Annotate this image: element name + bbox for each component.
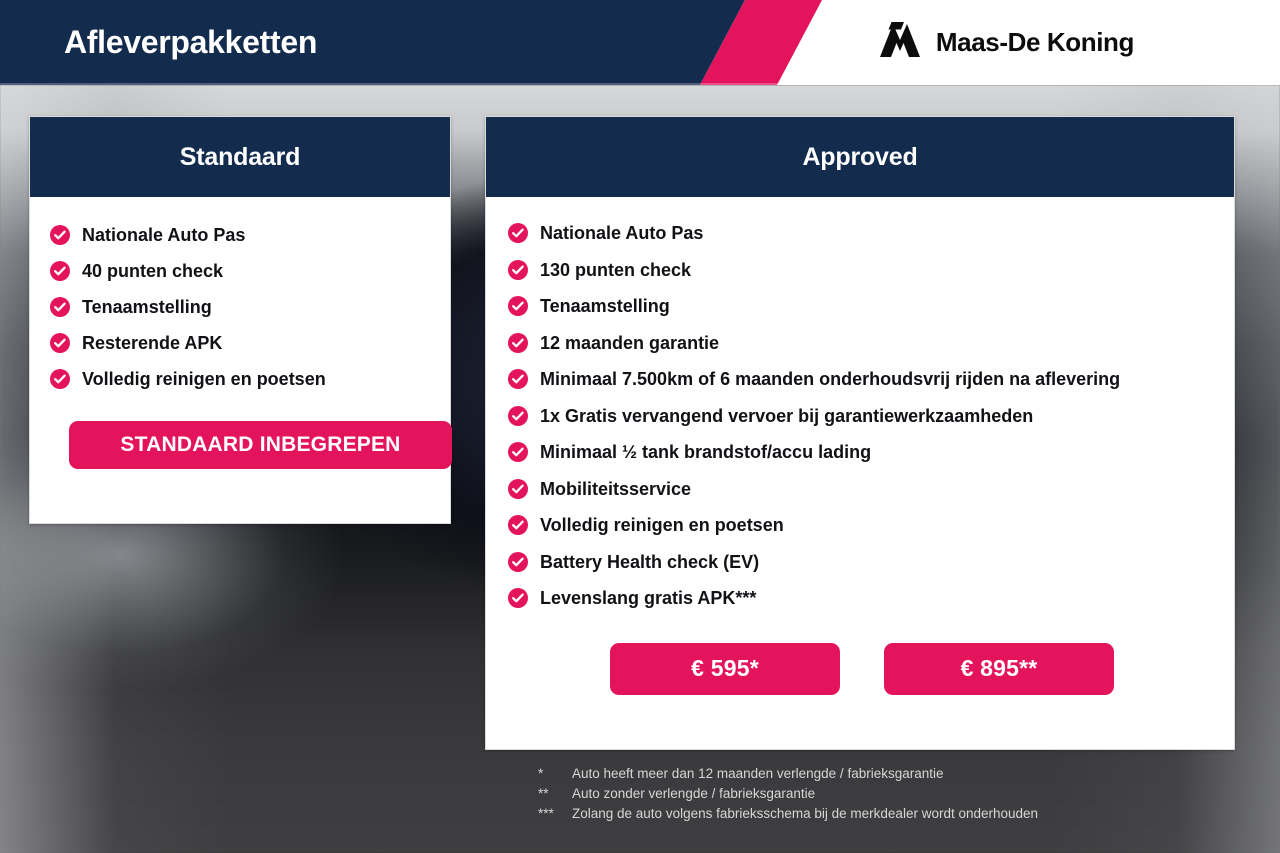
price-button-595[interactable]: € 595*	[610, 643, 840, 695]
footnote-row: * Auto heeft meer dan 12 maanden verleng…	[538, 764, 1238, 784]
feature-label: Volledig reinigen en poetsen	[82, 361, 430, 397]
header-divider	[0, 83, 1280, 85]
check-circle-icon	[50, 297, 70, 317]
check-circle-icon	[508, 369, 528, 389]
check-circle-icon	[508, 588, 528, 608]
list-item: 130 punten check	[508, 252, 1216, 289]
check-circle-icon	[50, 333, 70, 353]
list-item: Levenslang gratis APK***	[508, 580, 1216, 617]
standaard-included-button[interactable]: STANDAARD INBEGREPEN	[69, 421, 452, 469]
price-button-895[interactable]: € 895**	[884, 643, 1114, 695]
list-item: Tenaamstelling	[508, 288, 1216, 325]
list-item: Minimaal 7.500km of 6 maanden onderhouds…	[508, 361, 1216, 398]
list-item: Tenaamstelling	[50, 289, 430, 325]
feature-label: Tenaamstelling	[82, 289, 430, 325]
card-body-standaard: Nationale Auto Pas 40 punten check Tenaa…	[30, 197, 450, 469]
list-item: 1x Gratis vervangend vervoer bij garanti…	[508, 398, 1216, 435]
feature-label: Minimaal 7.500km of 6 maanden onderhouds…	[540, 361, 1216, 398]
footnote-text: Auto heeft meer dan 12 maanden verlengde…	[572, 764, 1238, 784]
check-circle-icon	[508, 223, 528, 243]
footnote-text: Zolang de auto volgens fabrieksschema bi…	[572, 804, 1238, 824]
package-card-approved: Approved Nationale Auto Pas 130 punten c…	[485, 116, 1235, 750]
footnote-marker: *	[538, 764, 572, 784]
feature-label: Nationale Auto Pas	[540, 215, 1216, 252]
feature-label: Volledig reinigen en poetsen	[540, 507, 1216, 544]
feature-label: Resterende APK	[82, 325, 430, 361]
list-item: Battery Health check (EV)	[508, 544, 1216, 581]
maas-de-koning-m-logo-icon	[878, 22, 922, 63]
brand-lockup: Maas-De Koning	[878, 0, 1134, 85]
check-circle-icon	[508, 552, 528, 572]
list-item: Volledig reinigen en poetsen	[508, 507, 1216, 544]
feature-list-approved: Nationale Auto Pas 130 punten check Tena…	[508, 215, 1216, 617]
list-item: Mobiliteitsservice	[508, 471, 1216, 508]
page-root: Afleverpakketten Maas-De Koning Standaar…	[0, 0, 1280, 853]
list-item: Resterende APK	[50, 325, 430, 361]
list-item: 40 punten check	[50, 253, 430, 289]
card-body-approved: Nationale Auto Pas 130 punten check Tena…	[486, 197, 1234, 695]
list-item: Volledig reinigen en poetsen	[50, 361, 430, 397]
feature-label: 40 punten check	[82, 253, 430, 289]
check-circle-icon	[50, 261, 70, 281]
page-title: Afleverpakketten	[64, 0, 317, 85]
feature-label: Minimaal ½ tank brandstof/accu lading	[540, 434, 1216, 471]
check-circle-icon	[508, 515, 528, 535]
list-item: Minimaal ½ tank brandstof/accu lading	[508, 434, 1216, 471]
feature-label: 1x Gratis vervangend vervoer bij garanti…	[540, 398, 1216, 435]
feature-label: 12 maanden garantie	[540, 325, 1216, 362]
list-item: Nationale Auto Pas	[50, 217, 430, 253]
brand-name: Maas-De Koning	[936, 27, 1134, 58]
footnote-text: Auto zonder verlengde / fabrieksgarantie	[572, 784, 1238, 804]
feature-label: 130 punten check	[540, 252, 1216, 289]
feature-label: Mobiliteitsservice	[540, 471, 1216, 508]
card-title-standaard: Standaard	[30, 117, 450, 197]
check-circle-icon	[508, 333, 528, 353]
package-card-standaard: Standaard Nationale Auto Pas 40 punten c…	[29, 116, 451, 524]
feature-label: Nationale Auto Pas	[82, 217, 430, 253]
check-circle-icon	[508, 442, 528, 462]
footnote-marker: ***	[538, 804, 572, 824]
check-circle-icon	[508, 296, 528, 316]
footnotes: * Auto heeft meer dan 12 maanden verleng…	[538, 764, 1238, 824]
card-title-approved: Approved	[486, 117, 1234, 197]
check-circle-icon	[50, 225, 70, 245]
feature-label: Tenaamstelling	[540, 288, 1216, 325]
check-circle-icon	[508, 260, 528, 280]
page-header: Afleverpakketten Maas-De Koning	[0, 0, 1280, 85]
price-button-row: € 595* € 895**	[508, 643, 1216, 695]
list-item: 12 maanden garantie	[508, 325, 1216, 362]
footnote-row: ** Auto zonder verlengde / fabrieksgaran…	[538, 784, 1238, 804]
list-item: Nationale Auto Pas	[508, 215, 1216, 252]
feature-list-standaard: Nationale Auto Pas 40 punten check Tenaa…	[50, 217, 430, 397]
check-circle-icon	[50, 369, 70, 389]
footnote-row: *** Zolang de auto volgens fabrieksschem…	[538, 804, 1238, 824]
feature-label: Levenslang gratis APK***	[540, 580, 1216, 617]
footnote-marker: **	[538, 784, 572, 804]
check-circle-icon	[508, 406, 528, 426]
feature-label: Battery Health check (EV)	[540, 544, 1216, 581]
check-circle-icon	[508, 479, 528, 499]
